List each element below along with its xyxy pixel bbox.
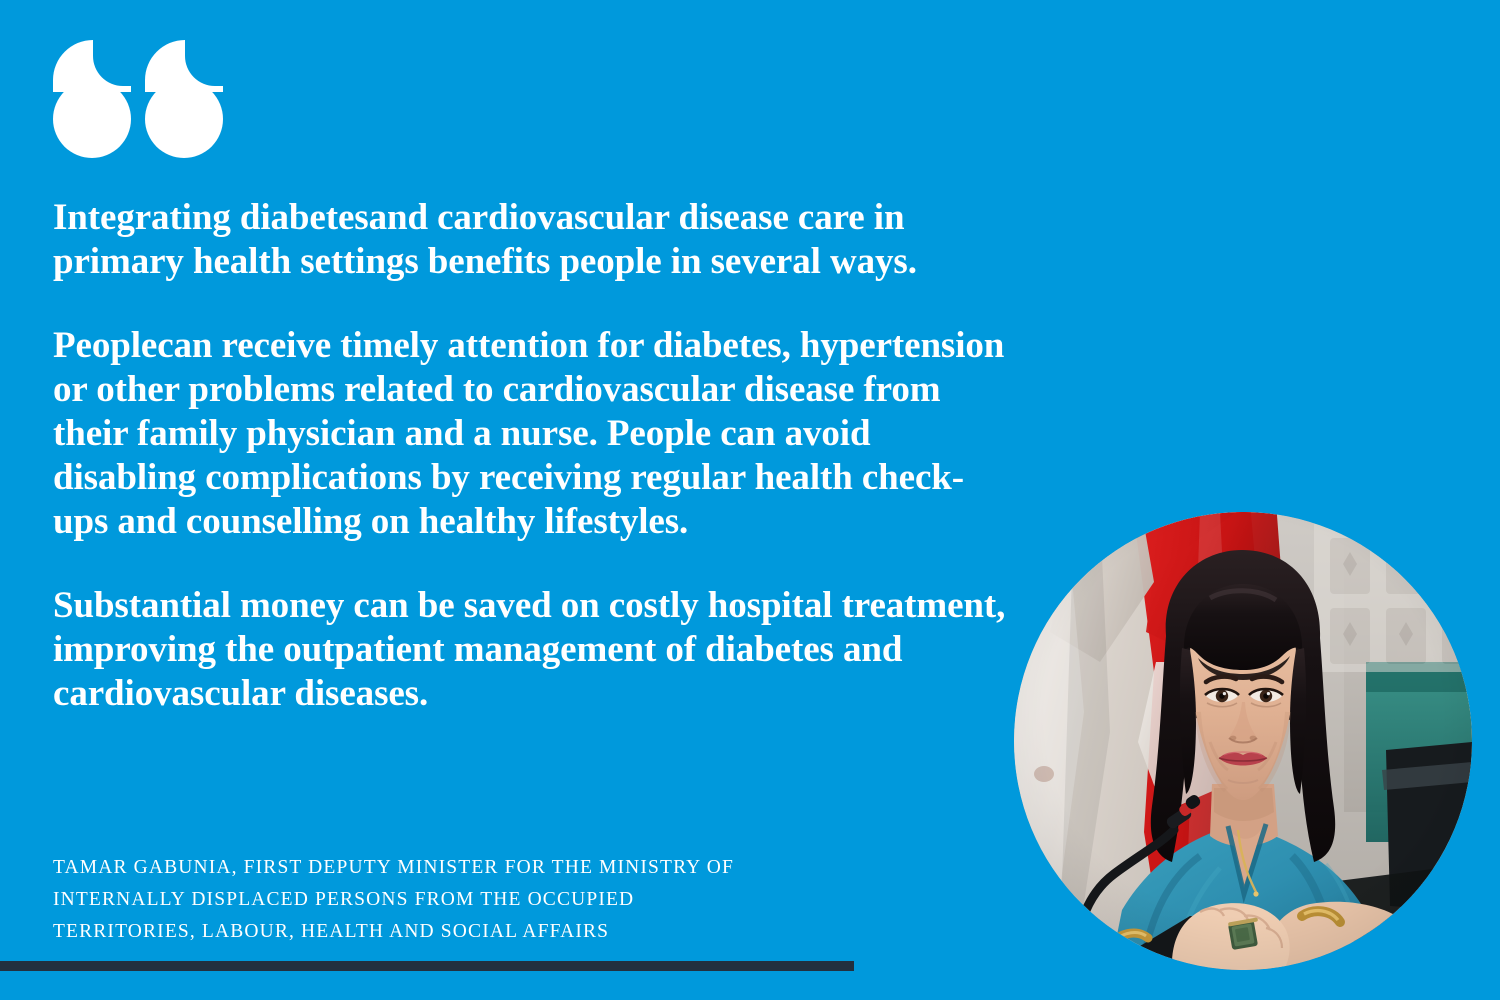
quote-card: Integrating diabetesand cardiovascular d…: [0, 0, 1500, 1000]
attribution-line-1: TAMAR GABUNIA, FIRST DEPUTY MINISTER FOR…: [53, 852, 933, 884]
attribution-line-3: TERRITORIES, LABOUR, HEALTH AND SOCIAL A…: [53, 916, 933, 948]
quote-glyph-right-ball: [145, 80, 223, 158]
quote-paragraph-2: Peoplecan receive timely attention for d…: [53, 324, 1013, 544]
speaker-portrait: [1014, 512, 1472, 970]
quote-glyph-right: [145, 40, 223, 158]
quotation-mark-icon: [53, 40, 233, 170]
attribution-line-2: INTERNALLY DISPLACED PERSONS FROM THE OC…: [53, 884, 933, 916]
attribution: TAMAR GABUNIA, FIRST DEPUTY MINISTER FOR…: [53, 852, 933, 948]
quote-text: Integrating diabetesand cardiovascular d…: [53, 196, 1013, 716]
quote-glyph-left-ball: [53, 80, 131, 158]
quote-glyph-left: [53, 40, 131, 158]
bottom-rule: [0, 961, 854, 971]
portrait-illustration: [1014, 512, 1472, 970]
quote-paragraph-1: Integrating diabetesand cardiovascular d…: [53, 196, 1013, 284]
quote-paragraph-3: Substantial money can be saved on costly…: [53, 584, 1013, 716]
